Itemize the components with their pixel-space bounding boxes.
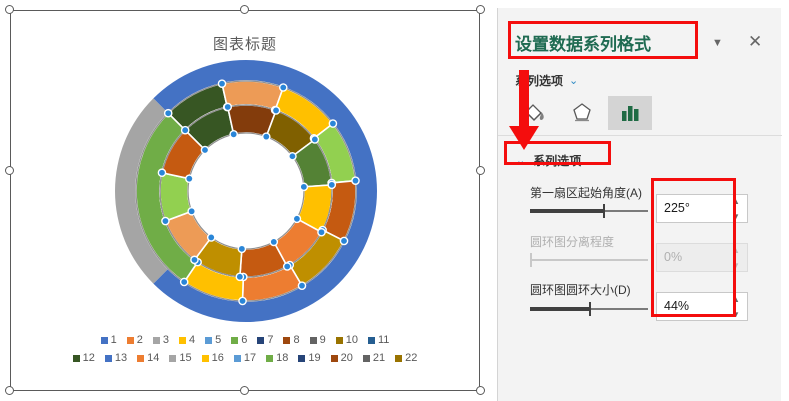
legend-item[interactable]: 3 bbox=[153, 334, 169, 346]
slider-thumb[interactable] bbox=[589, 302, 591, 316]
chart-object[interactable]: 图表标题 1234567891011 121314151617181920212… bbox=[10, 10, 480, 391]
doughnut-hole-size-label: 圆环图圆环大小(D) bbox=[530, 281, 631, 298]
legend-item[interactable]: 15 bbox=[169, 352, 191, 364]
legend-label: 12 bbox=[83, 352, 95, 364]
legend-label: 18 bbox=[276, 352, 288, 364]
data-point-handle[interactable] bbox=[298, 282, 305, 289]
data-point-handle[interactable] bbox=[218, 80, 225, 87]
legend-label: 1 bbox=[111, 334, 117, 346]
data-point-handle[interactable] bbox=[224, 103, 231, 110]
resize-handle-e[interactable] bbox=[476, 166, 485, 175]
first-slice-angle-label: 第一扇区起始角度(A) bbox=[530, 184, 642, 201]
doughnut-hole-size-slider[interactable] bbox=[530, 302, 648, 316]
legend-swatch bbox=[231, 337, 238, 344]
slider-filled bbox=[530, 307, 589, 311]
legend-label: 8 bbox=[293, 334, 299, 346]
doughnut-chart-svg[interactable] bbox=[96, 51, 396, 331]
legend-item[interactable]: 14 bbox=[137, 352, 159, 364]
legend-label: 13 bbox=[115, 352, 127, 364]
data-point-handle[interactable] bbox=[329, 120, 336, 127]
doughnut-chart-plot[interactable] bbox=[11, 51, 481, 331]
legend-item[interactable]: 12 bbox=[73, 352, 95, 364]
legend-label: 22 bbox=[405, 352, 417, 364]
data-point-handle[interactable] bbox=[263, 133, 270, 140]
annotation-box-title bbox=[508, 21, 698, 59]
data-point-handle[interactable] bbox=[181, 278, 188, 285]
legend-label: 4 bbox=[189, 334, 195, 346]
slider-track bbox=[530, 259, 648, 261]
legend-item[interactable]: 6 bbox=[231, 334, 247, 346]
legend-item[interactable]: 13 bbox=[105, 352, 127, 364]
data-point-handle[interactable] bbox=[352, 177, 359, 184]
data-point-handle[interactable] bbox=[293, 215, 300, 222]
legend-swatch bbox=[331, 355, 338, 362]
legend-swatch bbox=[179, 337, 186, 344]
resize-handle-nw[interactable] bbox=[5, 5, 14, 14]
legend-swatch bbox=[105, 355, 112, 362]
chevron-down-icon[interactable]: ▼ bbox=[712, 37, 723, 49]
legend-label: 19 bbox=[308, 352, 320, 364]
data-point-handle[interactable] bbox=[162, 217, 169, 224]
legend-item[interactable]: 8 bbox=[283, 334, 299, 346]
doughnut-explosion-label: 圆环图分离程度 bbox=[530, 233, 614, 250]
legend-item[interactable]: 21 bbox=[363, 352, 385, 364]
legend-item[interactable]: 17 bbox=[234, 352, 256, 364]
legend-label: 14 bbox=[147, 352, 159, 364]
legend-swatch bbox=[395, 355, 402, 362]
data-point-handle[interactable] bbox=[280, 84, 287, 91]
doughnut-explosion-slider bbox=[530, 253, 648, 267]
resize-handle-n[interactable] bbox=[240, 5, 249, 14]
legend-item[interactable]: 7 bbox=[257, 334, 273, 346]
legend-label: 21 bbox=[373, 352, 385, 364]
legend-swatch bbox=[101, 337, 108, 344]
legend-item[interactable]: 4 bbox=[179, 334, 195, 346]
annotation-box-values bbox=[651, 178, 736, 317]
legend-label: 9 bbox=[320, 334, 326, 346]
data-point-handle[interactable] bbox=[270, 238, 277, 245]
legend-item[interactable]: 11 bbox=[368, 334, 389, 346]
legend-item[interactable]: 2 bbox=[127, 334, 143, 346]
legend-label: 5 bbox=[215, 334, 221, 346]
data-point-handle[interactable] bbox=[201, 146, 208, 153]
legend-swatch bbox=[336, 337, 343, 344]
data-point-handle[interactable] bbox=[239, 297, 246, 304]
data-point-handle[interactable] bbox=[300, 183, 307, 190]
data-point-handle[interactable] bbox=[272, 107, 279, 114]
chevron-down-icon: ⌄ bbox=[569, 74, 578, 87]
resize-handle-ne[interactable] bbox=[476, 5, 485, 14]
legend-swatch bbox=[202, 355, 209, 362]
legend-swatch bbox=[310, 337, 317, 344]
format-data-series-pane[interactable]: 设置数据系列格式 ▼ ✕ 系列选项 ⌄ bbox=[497, 8, 781, 401]
legend-label: 11 bbox=[378, 334, 389, 346]
data-point-handle[interactable] bbox=[188, 208, 195, 215]
legend-item[interactable]: 19 bbox=[298, 352, 320, 364]
legend-swatch bbox=[137, 355, 144, 362]
legend-swatch bbox=[234, 355, 241, 362]
legend-item[interactable]: 16 bbox=[202, 352, 224, 364]
data-point-handle[interactable] bbox=[186, 175, 193, 182]
legend-item[interactable]: 5 bbox=[205, 334, 221, 346]
legend-label: 6 bbox=[241, 334, 247, 346]
legend-swatch bbox=[73, 355, 80, 362]
legend-item[interactable]: 9 bbox=[310, 334, 326, 346]
data-point-handle[interactable] bbox=[340, 237, 347, 244]
legend-row-2: 1213141516171819202122 bbox=[68, 352, 423, 364]
data-point-handle[interactable] bbox=[165, 110, 172, 117]
legend-item[interactable]: 18 bbox=[266, 352, 288, 364]
bar-chart-icon bbox=[617, 100, 643, 126]
legend-item[interactable]: 1 bbox=[101, 334, 117, 346]
tab-series-options[interactable] bbox=[608, 96, 652, 130]
legend-label: 7 bbox=[267, 334, 273, 346]
data-point-handle[interactable] bbox=[158, 169, 165, 176]
first-slice-angle-slider[interactable] bbox=[530, 204, 648, 218]
data-point-handle[interactable] bbox=[230, 131, 237, 138]
data-point-handle[interactable] bbox=[238, 245, 245, 252]
data-point-handle[interactable] bbox=[311, 136, 318, 143]
legend-label: 2 bbox=[137, 334, 143, 346]
data-point-handle[interactable] bbox=[328, 181, 335, 188]
close-icon[interactable]: ✕ bbox=[748, 33, 762, 50]
slider-thumb[interactable] bbox=[603, 204, 605, 218]
legend-item[interactable]: 22 bbox=[395, 352, 417, 364]
legend-label: 15 bbox=[179, 352, 191, 364]
data-point-handle[interactable] bbox=[208, 234, 215, 241]
chart-legend[interactable]: 1234567891011 1213141516171819202122 bbox=[11, 334, 479, 364]
legend-swatch bbox=[169, 355, 176, 362]
legend-swatch bbox=[153, 337, 160, 344]
data-point-handle[interactable] bbox=[289, 153, 296, 160]
legend-label: 17 bbox=[244, 352, 256, 364]
legend-label: 16 bbox=[212, 352, 224, 364]
legend-swatch bbox=[257, 337, 264, 344]
red-down-arrow bbox=[505, 70, 551, 152]
legend-swatch bbox=[363, 355, 370, 362]
resize-handle-sw[interactable] bbox=[5, 386, 14, 395]
legend-item[interactable]: 10 bbox=[336, 334, 358, 346]
legend-swatch bbox=[368, 337, 375, 344]
legend-swatch bbox=[298, 355, 305, 362]
data-point-handle[interactable] bbox=[236, 273, 243, 280]
legend-label: 10 bbox=[346, 334, 358, 346]
resize-handle-w[interactable] bbox=[5, 166, 14, 175]
legend-swatch bbox=[205, 337, 212, 344]
legend-label: 20 bbox=[341, 352, 353, 364]
pentagon-icon bbox=[569, 100, 595, 126]
data-point-handle[interactable] bbox=[284, 263, 291, 270]
data-point-handle[interactable] bbox=[191, 256, 198, 263]
resize-handle-s[interactable] bbox=[240, 386, 249, 395]
legend-swatch bbox=[283, 337, 290, 344]
tab-effects[interactable] bbox=[560, 96, 604, 130]
slider-thumb bbox=[530, 253, 532, 267]
data-point-handle[interactable] bbox=[182, 127, 189, 134]
legend-swatch bbox=[127, 337, 134, 344]
legend-item[interactable]: 20 bbox=[331, 352, 353, 364]
legend-row-1: 1234567891011 bbox=[96, 334, 395, 346]
data-point-handle[interactable] bbox=[318, 229, 325, 236]
legend-swatch bbox=[266, 355, 273, 362]
legend-label: 3 bbox=[163, 334, 169, 346]
resize-handle-se[interactable] bbox=[476, 386, 485, 395]
slider-filled bbox=[530, 209, 603, 213]
